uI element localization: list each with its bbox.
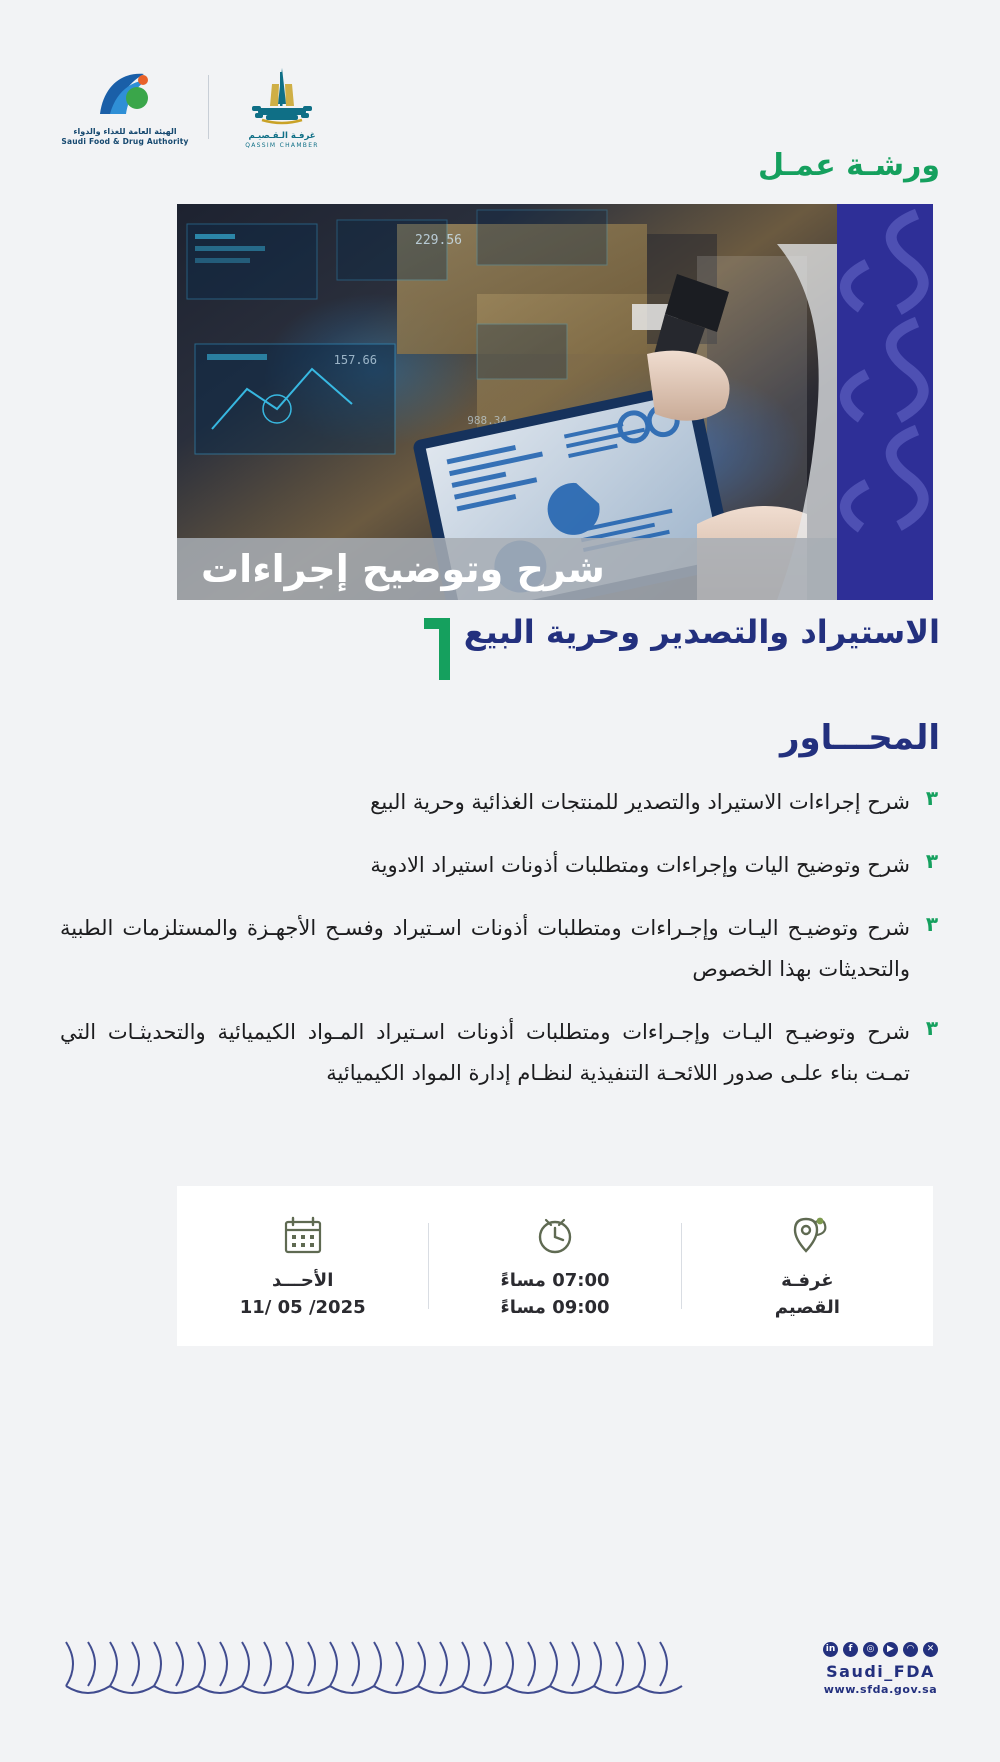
poster-root: غرفـة الـقـصيـم QASSIM CHAMBER الهيئة ال… <box>0 0 1000 1762</box>
linkedin-icon[interactable]: in <box>823 1642 838 1657</box>
info-date-text: الأحـــد 11/ 05 /2025 <box>240 1267 366 1321</box>
bullet-icon: ٣ <box>924 851 940 871</box>
footer: ✕ ◠ ▶ ◎ f in Saudi_FDA www.sfda.gov.sa <box>0 1586 1000 1762</box>
saudi-fda-logo: الهيئة العامة للغذاء والدواء Saudi Food … <box>60 68 190 146</box>
bracket-accent-icon <box>424 618 450 680</box>
qassim-chamber-logo: غرفـة الـقـصيـم QASSIM CHAMBER <box>227 64 337 149</box>
topic-text: شرح وتوضيـح اليـات وإجـراءات ومتطلبات أذ… <box>60 908 910 990</box>
workshop-label: ورشـة عمـل <box>758 148 940 183</box>
info-divider <box>681 1223 682 1309</box>
location-pin-icon <box>784 1211 830 1257</box>
time-start: 07:00 مساءً <box>501 1267 610 1294</box>
social-handle[interactable]: Saudi_FDA <box>823 1662 938 1681</box>
qassim-chamber-name-en: QASSIM CHAMBER <box>245 142 319 149</box>
date-day: الأحـــد <box>240 1267 366 1294</box>
calendar-icon <box>280 1211 326 1257</box>
hero-banner: شرح وتوضيح إجراءات <box>177 538 837 600</box>
saudi-fda-name-ar: الهيئة العامة للغذاء والدواء <box>73 127 176 136</box>
time-end: 09:00 مساءً <box>501 1294 610 1321</box>
location-line-1: غرفـة <box>775 1267 840 1294</box>
saudi-fda-icon <box>90 68 160 124</box>
qassim-chamber-name-ar: غرفـة الـقـصيـم <box>248 131 315 141</box>
event-info-card: غرفـة القصيم 07:00 مساءً 09:00 مساءً <box>177 1186 933 1346</box>
social-icons-row[interactable]: ✕ ◠ ▶ ◎ f in <box>823 1642 938 1657</box>
hero-image-block: 229.56 157.66 311.32 292.76 988.34 <box>177 204 933 600</box>
hero-banner-text: شرح وتوضيح إجراءات <box>201 547 635 591</box>
clock-icon <box>532 1211 578 1257</box>
logo-group: غرفـة الـقـصيـم QASSIM CHAMBER الهيئة ال… <box>60 64 337 149</box>
topic-text: شرح إجراءات الاستيراد والتصدير للمنتجات … <box>60 782 910 823</box>
saudi-fda-name-en: Saudi Food & Drug Authority <box>61 137 188 146</box>
bullet-icon: ٣ <box>924 788 940 808</box>
topics-title: المحـــاور <box>780 718 940 758</box>
list-item: ٣ شرح وتوضيـح اليـات وإجـراءات ومتطلبات … <box>60 1012 940 1094</box>
footer-pattern <box>60 1638 700 1702</box>
logo-divider <box>208 75 209 139</box>
info-location: غرفـة القصيم <box>682 1211 933 1321</box>
topic-text: شرح وتوضيح اليات وإجراءات ومتطلبات أذونا… <box>60 845 910 886</box>
instagram-icon[interactable]: ◎ <box>863 1642 878 1657</box>
info-divider <box>428 1223 429 1309</box>
subtitle-text: الاستيراد والتصدير وحرية البيع <box>464 612 940 654</box>
facebook-icon[interactable]: f <box>843 1642 858 1657</box>
website-url[interactable]: www.sfda.gov.sa <box>823 1683 938 1696</box>
footer-social-block: ✕ ◠ ▶ ◎ f in Saudi_FDA www.sfda.gov.sa <box>823 1642 938 1696</box>
info-date: الأحـــد 11/ 05 /2025 <box>177 1211 428 1321</box>
list-item: ٣ شرح وتوضيح اليات وإجراءات ومتطلبات أذو… <box>60 845 940 886</box>
qassim-chamber-icon <box>238 64 326 128</box>
topic-text: شرح وتوضيـح اليـات وإجـراءات ومتطلبات أذ… <box>60 1012 910 1094</box>
list-item: ٣ شرح إجراءات الاستيراد والتصدير للمنتجا… <box>60 782 940 823</box>
location-line-2: القصيم <box>775 1294 840 1321</box>
bullet-icon: ٣ <box>924 1018 940 1038</box>
info-location-text: غرفـة القصيم <box>775 1267 840 1321</box>
bullet-icon: ٣ <box>924 914 940 934</box>
info-time: 07:00 مساءً 09:00 مساءً <box>429 1211 680 1321</box>
topics-list: ٣ شرح إجراءات الاستيراد والتصدير للمنتجا… <box>60 782 940 1116</box>
header: غرفـة الـقـصيـم QASSIM CHAMBER الهيئة ال… <box>0 0 1000 200</box>
x-icon[interactable]: ✕ <box>923 1642 938 1657</box>
date-value: 11/ 05 /2025 <box>240 1294 366 1321</box>
svg-text:229.56: 229.56 <box>415 233 462 248</box>
youtube-icon[interactable]: ▶ <box>883 1642 898 1657</box>
hero-pattern-strip <box>837 204 933 600</box>
list-item: ٣ شرح وتوضيـح اليـات وإجـراءات ومتطلبات … <box>60 908 940 990</box>
snapchat-icon[interactable]: ◠ <box>903 1642 918 1657</box>
subtitle-block: الاستيراد والتصدير وحرية البيع <box>424 612 940 680</box>
info-time-text: 07:00 مساءً 09:00 مساءً <box>501 1267 610 1321</box>
svg-text:157.66: 157.66 <box>334 353 377 367</box>
